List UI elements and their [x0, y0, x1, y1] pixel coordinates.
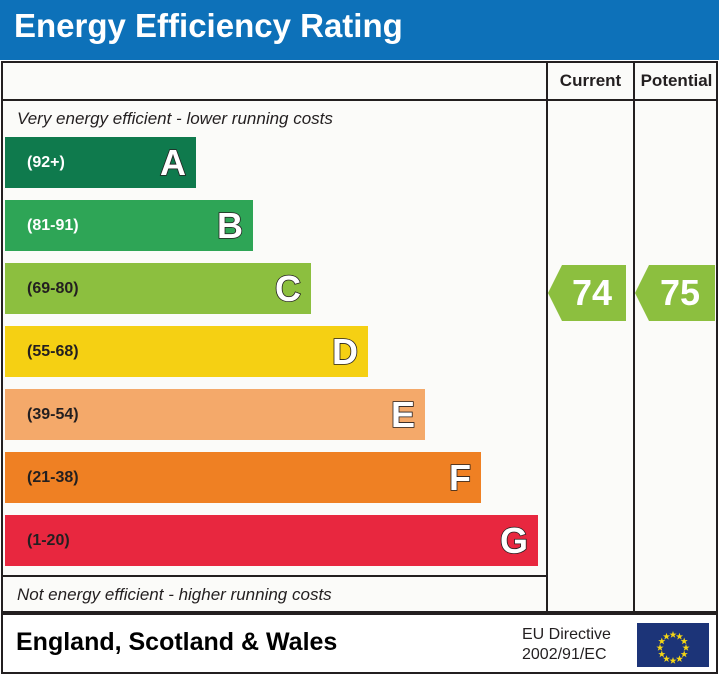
band-letter-g: G	[500, 523, 528, 559]
band-range-f: (21-38)	[27, 469, 79, 487]
energy-efficiency-rating-chart: Energy Efficiency Rating Current Potenti…	[0, 0, 719, 675]
band-letter-d: D	[332, 334, 358, 370]
eu-flag-icon	[637, 623, 709, 667]
band-range-a: (92+)	[27, 154, 65, 172]
column-header-potential: Potential	[633, 63, 718, 99]
footer-directive-line2: 2002/91/EC	[522, 645, 611, 665]
band-range-e: (39-54)	[27, 406, 79, 424]
band-letter-f: F	[449, 460, 471, 496]
potential-rating-marker: 75	[635, 265, 715, 321]
band-range-g: (1-20)	[27, 532, 70, 550]
band-row-c: (69-80) C	[5, 263, 311, 314]
band-letter-e: E	[391, 397, 415, 433]
column-divider-current	[546, 101, 548, 611]
band-row-d: (55-68) D	[5, 326, 368, 377]
chart-footer: England, Scotland & Wales EU Directive 2…	[1, 613, 718, 674]
column-header-row: Current Potential	[3, 63, 716, 101]
band-range-d: (55-68)	[27, 343, 79, 361]
band-list: (92+) A (81-91) B (69-80) C (55-68) D (3…	[3, 137, 546, 575]
column-header-current: Current	[546, 63, 633, 99]
band-row-a: (92+) A	[5, 137, 196, 188]
band-row-g: (1-20) G	[5, 515, 538, 566]
caption-efficient: Very energy efficient - lower running co…	[3, 101, 546, 137]
band-row-f: (21-38) F	[5, 452, 481, 503]
current-rating-marker: 74	[548, 265, 626, 321]
footer-directive-line1: EU Directive	[522, 625, 611, 645]
footer-region-label: England, Scotland & Wales	[16, 628, 337, 657]
current-rating-value: 74	[572, 272, 612, 314]
footer-directive: EU Directive 2002/91/EC	[522, 625, 611, 665]
page-title: Energy Efficiency Rating	[14, 7, 403, 45]
column-divider-potential	[633, 101, 635, 611]
band-letter-b: B	[217, 208, 243, 244]
band-row-e: (39-54) E	[5, 389, 425, 440]
rating-table: Current Potential Very energy efficient …	[1, 61, 718, 613]
chart-header-banner: Energy Efficiency Rating	[0, 0, 719, 60]
potential-rating-value: 75	[660, 272, 700, 314]
caption-inefficient: Not energy efficient - higher running co…	[3, 575, 546, 613]
band-range-c: (69-80)	[27, 280, 79, 298]
band-row-b: (81-91) B	[5, 200, 253, 251]
band-letter-a: A	[160, 145, 186, 181]
band-range-b: (81-91)	[27, 217, 79, 235]
band-letter-c: C	[275, 271, 301, 307]
